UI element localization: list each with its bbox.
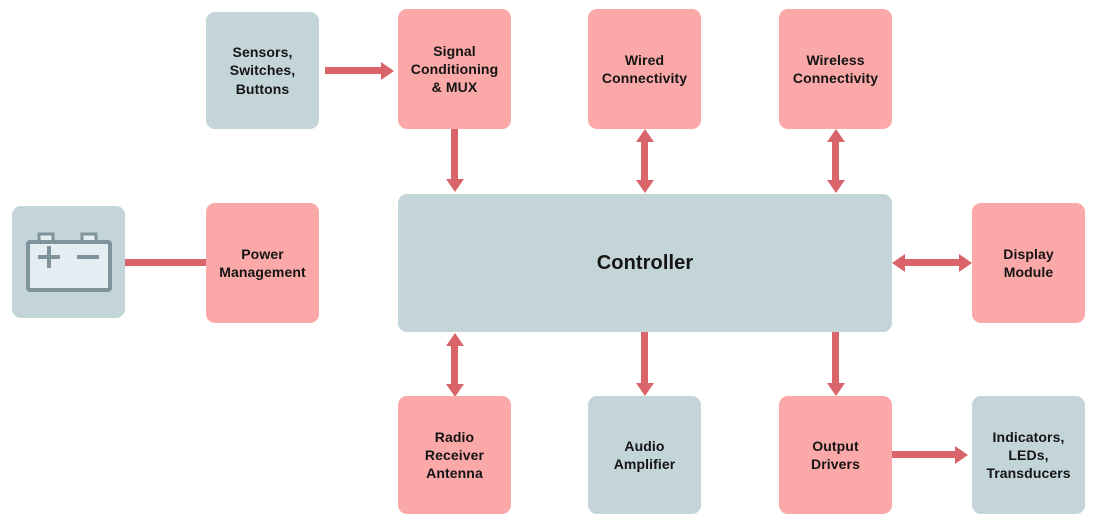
block-label: Sensors, Switches, Buttons	[230, 43, 295, 98]
block-wireless-connectivity[interactable]: Wireless Connectivity	[779, 9, 892, 129]
block-diagram-canvas: Sensors, Switches, Buttons Signal Condit…	[0, 0, 1100, 525]
block-label: Signal Conditioning & MUX	[411, 42, 499, 97]
connector-shaft	[832, 332, 839, 384]
block-label: Indicators, LEDs, Transducers	[986, 428, 1070, 483]
connector-shaft	[325, 67, 385, 74]
block-label: Audio Amplifier	[614, 437, 676, 473]
block-indicators-leds-transducers[interactable]: Indicators, LEDs, Transducers	[972, 396, 1085, 514]
block-label: Output Drivers	[811, 437, 860, 473]
connector-shaft	[641, 137, 648, 183]
block-audio-amplifier[interactable]: Audio Amplifier	[588, 396, 701, 514]
block-wired-connectivity[interactable]: Wired Connectivity	[588, 9, 701, 129]
block-label: Radio Receiver Antenna	[425, 428, 484, 483]
block-label: Wired Connectivity	[602, 51, 687, 87]
arrowhead-right-icon	[959, 254, 972, 272]
block-label: Controller	[597, 250, 694, 276]
arrowhead-up-icon	[636, 129, 654, 142]
connector-shaft	[451, 129, 458, 182]
battery-icon	[12, 206, 125, 318]
arrowhead-down-icon	[827, 383, 845, 396]
connector-shaft	[901, 259, 963, 266]
arrowhead-down-icon	[827, 180, 845, 193]
arrowhead-right-icon	[381, 62, 394, 80]
block-label: Wireless Connectivity	[793, 51, 878, 87]
block-battery[interactable]	[12, 206, 125, 318]
block-display-module[interactable]: Display Module	[972, 203, 1085, 323]
block-controller[interactable]: Controller	[398, 194, 892, 332]
connector-shaft	[125, 259, 207, 266]
block-label: Display Module	[1003, 245, 1054, 281]
block-sensors-switches-buttons[interactable]: Sensors, Switches, Buttons	[206, 12, 319, 129]
connector-shaft	[832, 137, 839, 183]
arrowhead-up-icon	[446, 333, 464, 346]
connector-shaft	[892, 451, 959, 458]
block-signal-conditioning-mux[interactable]: Signal Conditioning & MUX	[398, 9, 511, 129]
block-radio-receiver-antenna[interactable]: Radio Receiver Antenna	[398, 396, 511, 514]
connector-shaft	[641, 332, 648, 384]
block-power-management[interactable]: Power Management	[206, 203, 319, 323]
arrowhead-down-icon	[636, 383, 654, 396]
block-output-drivers[interactable]: Output Drivers	[779, 396, 892, 514]
arrowhead-down-icon	[636, 180, 654, 193]
arrowhead-right-icon	[955, 446, 968, 464]
arrowhead-up-icon	[827, 129, 845, 142]
arrowhead-down-icon	[446, 179, 464, 192]
arrowhead-left-icon	[892, 254, 905, 272]
block-label: Power Management	[219, 245, 306, 281]
connector-shaft	[451, 344, 458, 388]
